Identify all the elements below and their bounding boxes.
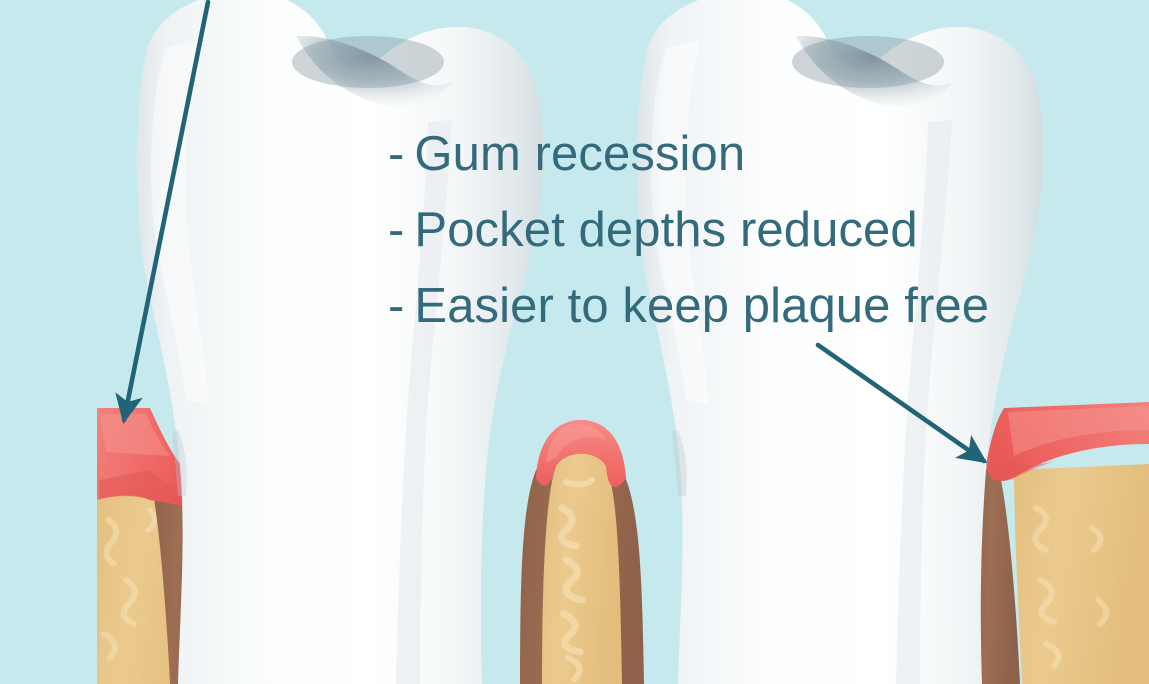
illustration-canvas: -Gum recession -Pocket depths reduced -E… — [0, 0, 1149, 684]
right-jaw-block — [971, 402, 1149, 684]
tooth-right-fissure-core — [792, 36, 944, 88]
dental-cross-section-illustration — [0, 0, 1149, 684]
right-alveolar-bone — [1014, 464, 1149, 684]
tooth-left-fissure-core — [292, 36, 444, 88]
